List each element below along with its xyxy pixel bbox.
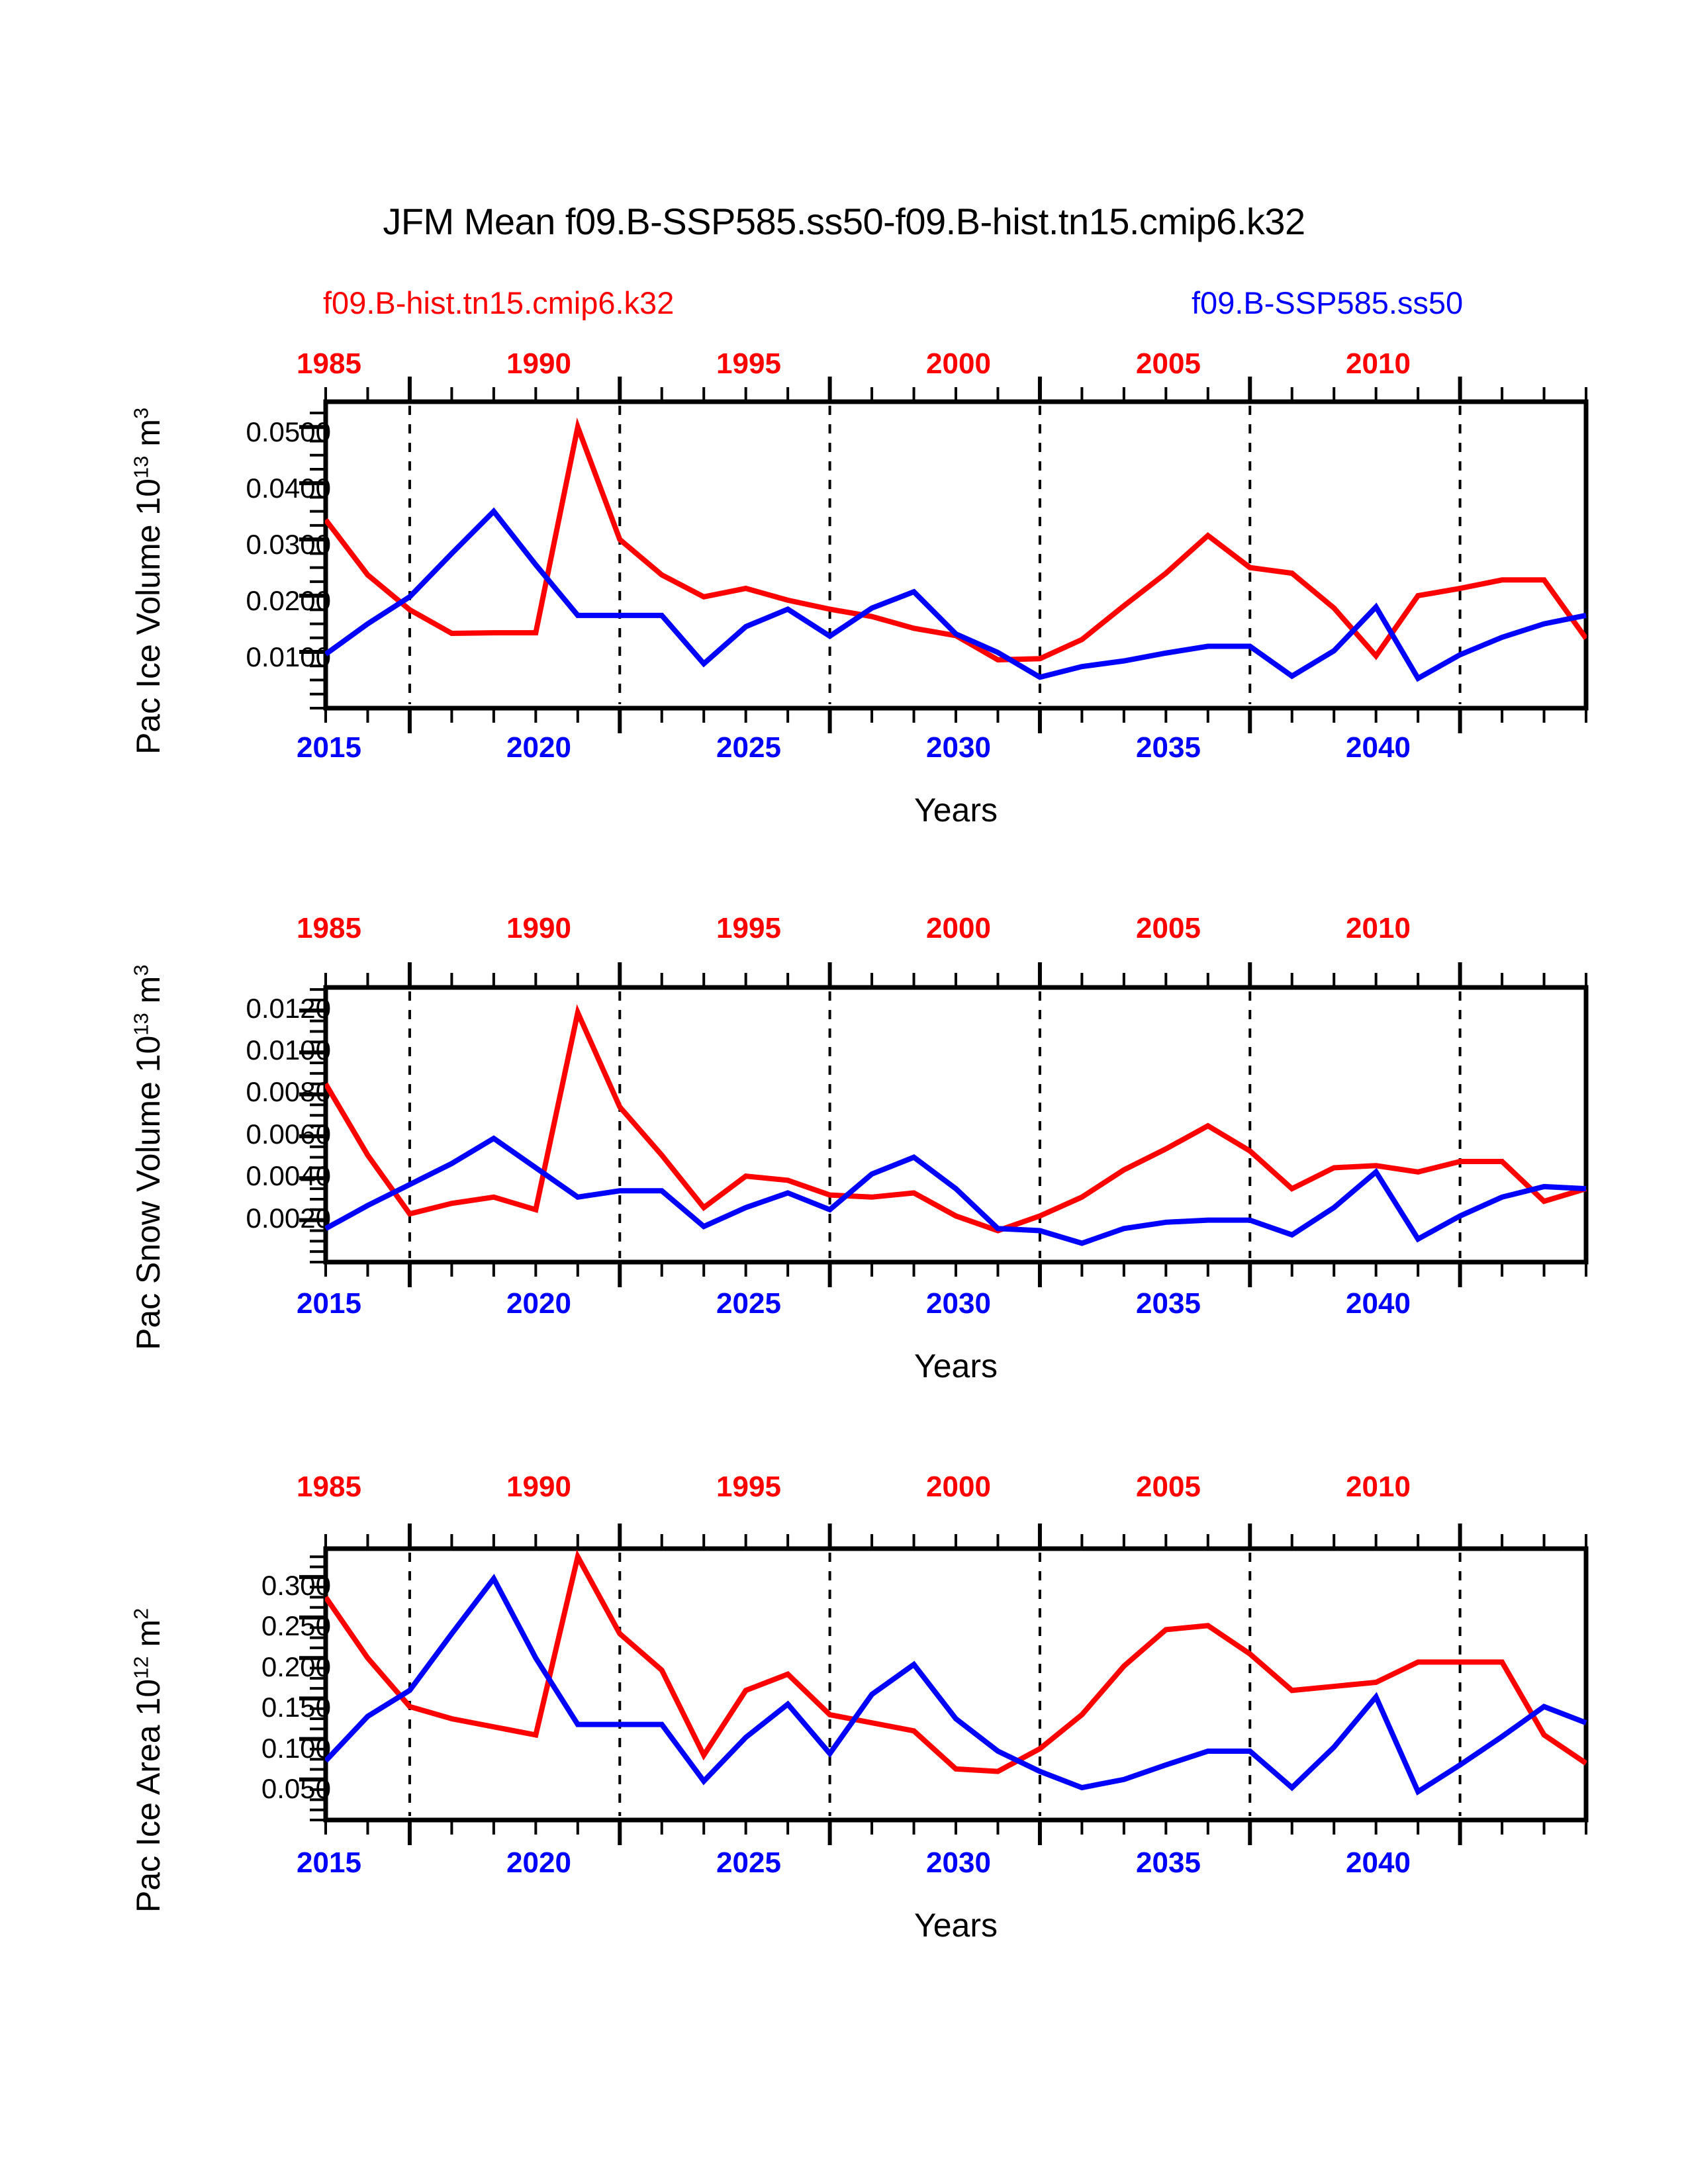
panel-frame	[326, 402, 1586, 708]
series-ssp-blue	[326, 512, 1586, 678]
series-hist-red	[326, 427, 1586, 660]
panel-2-plot	[299, 962, 1586, 1287]
plot-layer	[0, 0, 1688, 2184]
series-ssp-blue	[326, 1138, 1586, 1243]
chart-page: JFM Mean f09.B-SSP585.ss50-f09.B-hist.tn…	[0, 0, 1688, 2184]
panel-1-plot	[299, 377, 1586, 733]
panel-frame	[326, 1549, 1586, 1820]
panel-frame	[326, 987, 1586, 1262]
series-hist-red	[326, 1013, 1586, 1230]
panel-3-plot	[299, 1524, 1586, 1845]
series-ssp-blue	[326, 1578, 1586, 1792]
